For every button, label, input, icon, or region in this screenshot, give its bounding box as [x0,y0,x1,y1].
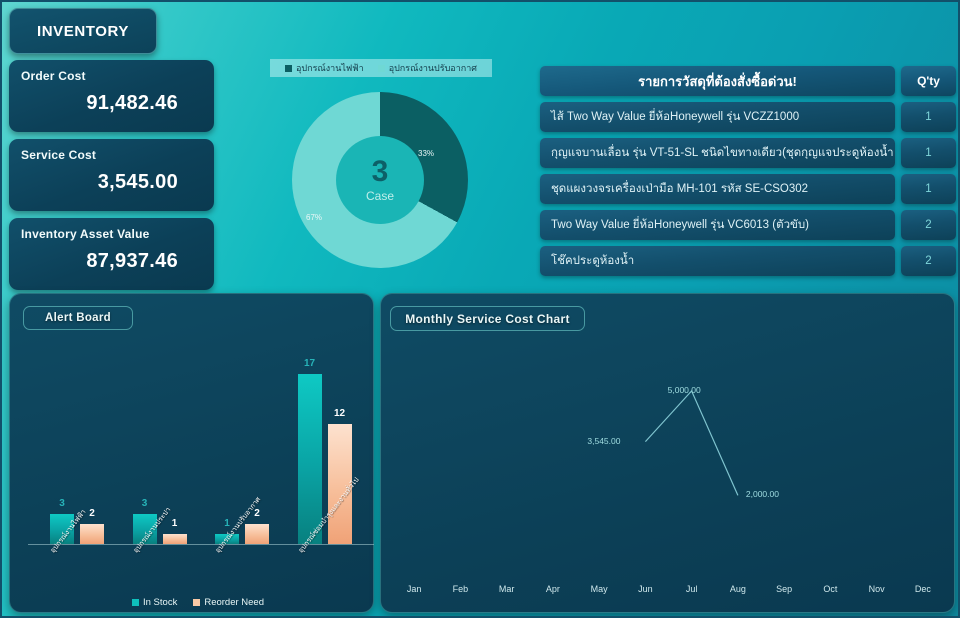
bar-value-label: 1 [172,518,178,529]
kpi-value: 3,545.00 [21,171,202,194]
month-label: Feb [437,584,483,594]
item-name: ไส้ Two Way Value ยี่ห้อHoneywell รุ่น V… [540,102,895,132]
table-row[interactable]: ไส้ Two Way Value ยี่ห้อHoneywell รุ่น V… [540,102,956,132]
item-qty: 1 [901,138,956,168]
month-label: Aug [715,584,761,594]
legend-label: Reorder Need [204,597,264,608]
month-label: Sep [761,584,807,594]
line-point-value-label: 2,000.00 [746,489,779,499]
legend-item-electrical: อุปกรณ์งานไฟฟ้า [285,61,364,75]
line-point-value-label: 5,000.00 [668,385,701,395]
month-label: Mar [484,584,530,594]
bar-x-axis [28,544,374,545]
column-header-item: รายการวัสดุที่ต้องสั่งซื้อด่วน! [540,66,895,96]
month-axis-labels: JanFebMarAprMayJunJulAugSepOctNovDec [391,584,946,594]
donut-center: 3 Case [336,136,424,224]
kpi-label: Service Cost [21,148,202,162]
alert-board-panel: Alert Board 3231121712 In Stock Reorder … [9,293,374,613]
donut-center-caption: Case [366,189,394,203]
kpi-card-service-cost: Service Cost 3,545.00 [9,139,214,211]
legend-item-airconditioning: อุปกรณ์งานปรับอากาศ [378,61,477,75]
month-label: Apr [530,584,576,594]
legend-label: อุปกรณ์งานไฟฟ้า [296,61,364,75]
legend-label: อุปกรณ์งานปรับอากาศ [389,61,477,75]
bar-value-label: 3 [59,498,65,509]
donut-center-number: 3 [372,157,389,187]
alert-board-title: Alert Board [23,306,133,330]
dashboard-page: INVENTORY Order Cost 91,482.46 Service C… [0,0,960,618]
month-label: Nov [854,584,900,594]
donut-chart-legend: อุปกรณ์งานไฟฟ้า อุปกรณ์งานปรับอากาศ [270,59,492,77]
page-title: INVENTORY [9,8,157,54]
legend-swatch-icon [193,599,200,606]
service-chart-title: Monthly Service Cost Chart [390,306,585,331]
legend-item-in-stock: In Stock [132,597,177,608]
kpi-value: 91,482.46 [21,92,202,115]
item-qty: 1 [901,102,956,132]
urgent-order-list: รายการวัสดุที่ต้องสั่งซื้อด่วน! Q'ty ไส้… [540,66,956,282]
kpi-label: Order Cost [21,69,202,83]
table-row[interactable]: โช๊คประดูห้องน้ำ 2 [540,246,956,276]
bar-value-label: 3 [142,498,148,509]
monthly-service-cost-panel: Monthly Service Cost Chart 3,545.005,000… [380,293,955,613]
month-label: May [576,584,622,594]
item-name: โช๊คประดูห้องน้ำ [540,246,895,276]
bar-value-label: 17 [304,358,315,369]
donut-slice-percent-b: 67% [306,213,322,222]
legend-swatch-icon [378,65,385,72]
legend-label: In Stock [143,597,177,608]
item-name: ชุดแผงวงจรเครื่องเป่ามือ MH-101 รหัส SE-… [540,174,895,204]
service-cost-line-chart: 3,545.005,000.002,000.00 [391,340,946,575]
bar-chart-legend: In Stock Reorder Need [28,597,368,608]
legend-swatch-icon [132,599,139,606]
legend-swatch-icon [285,65,292,72]
month-label: Jan [391,584,437,594]
donut-slice-percent-a: 33% [418,149,434,158]
item-name: Two Way Value ยี่ห้อHoneywell รุ่น VC601… [540,210,895,240]
donut-chart: 3 Case 33% 67% [292,92,468,268]
legend-item-reorder-need: Reorder Need [193,597,264,608]
table-header-row: รายการวัสดุที่ต้องสั่งซื้อด่วน! Q'ty [540,66,956,96]
item-qty: 2 [901,246,956,276]
bar-reorder-need: 1 [163,534,187,544]
bar-value-label: 2 [89,508,95,519]
line-chart-svg [391,340,946,575]
month-label: Jun [622,584,668,594]
kpi-card-order-cost: Order Cost 91,482.46 [9,60,214,132]
month-label: Oct [807,584,853,594]
line-point-value-label: 3,545.00 [587,436,620,446]
table-row[interactable]: Two Way Value ยี่ห้อHoneywell รุ่น VC601… [540,210,956,240]
kpi-value: 87,937.46 [21,250,202,273]
table-row[interactable]: ชุดแผงวงจรเครื่องเป่ามือ MH-101 รหัส SE-… [540,174,956,204]
item-name: กุญแจบานเลื่อน รุ่น VT-51-SL ชนิดไขทางเด… [540,138,895,168]
kpi-card-inventory-asset-value: Inventory Asset Value 87,937.46 [9,218,214,290]
bar-reorder-need: 2 [80,524,104,544]
bar-in-stock: 17 [298,374,322,544]
table-row[interactable]: กุญแจบานเลื่อน รุ่น VT-51-SL ชนิดไขทางเด… [540,138,956,168]
month-label: Dec [900,584,946,594]
month-label: Jul [669,584,715,594]
column-header-qty: Q'ty [901,66,956,96]
bar-value-label: 12 [334,408,345,419]
item-qty: 2 [901,210,956,240]
bar-reorder-need: 2 [245,524,269,544]
kpi-label: Inventory Asset Value [21,227,202,241]
item-qty: 1 [901,174,956,204]
alert-board-bar-chart: 3231121712 In Stock Reorder Need อุปกรณ์… [28,354,368,604]
